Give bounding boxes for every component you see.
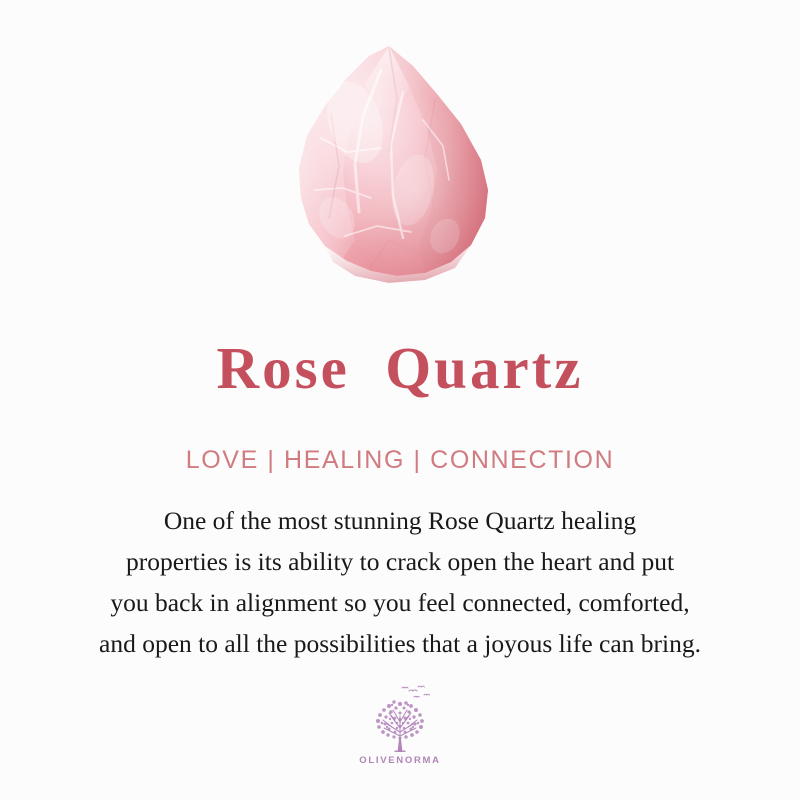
tree-icon — [361, 682, 439, 754]
rose-quartz-stone-image — [285, 40, 515, 290]
tree-roots — [394, 750, 406, 752]
tree-branches — [383, 710, 417, 742]
brand-logo: OLIVENORMA — [0, 682, 800, 766]
hero-image-container — [0, 40, 800, 300]
description-line: One of the most stunning Rose Quartz hea… — [0, 500, 800, 541]
tree-canopy — [376, 700, 424, 752]
rose-quartz-info-card: Rose Quartz LOVE | HEALING | CONNECTION … — [0, 0, 800, 800]
tree-trunk — [398, 738, 403, 752]
keyword-tagline: LOVE | HEALING | CONNECTION — [0, 446, 800, 475]
stone-glow-secondary — [299, 46, 488, 276]
description-line: you back in alignment so you feel connec… — [0, 582, 800, 623]
birds-icon — [402, 686, 430, 697]
description-line: properties is its ability to crack open … — [0, 541, 800, 582]
brand-wordmark: OLIVENORMA — [359, 755, 440, 766]
page-title: Rose Quartz — [0, 338, 800, 400]
description-paragraph: One of the most stunning Rose Quartz hea… — [0, 500, 800, 664]
description-line: and open to all the possibilities that a… — [0, 623, 800, 664]
